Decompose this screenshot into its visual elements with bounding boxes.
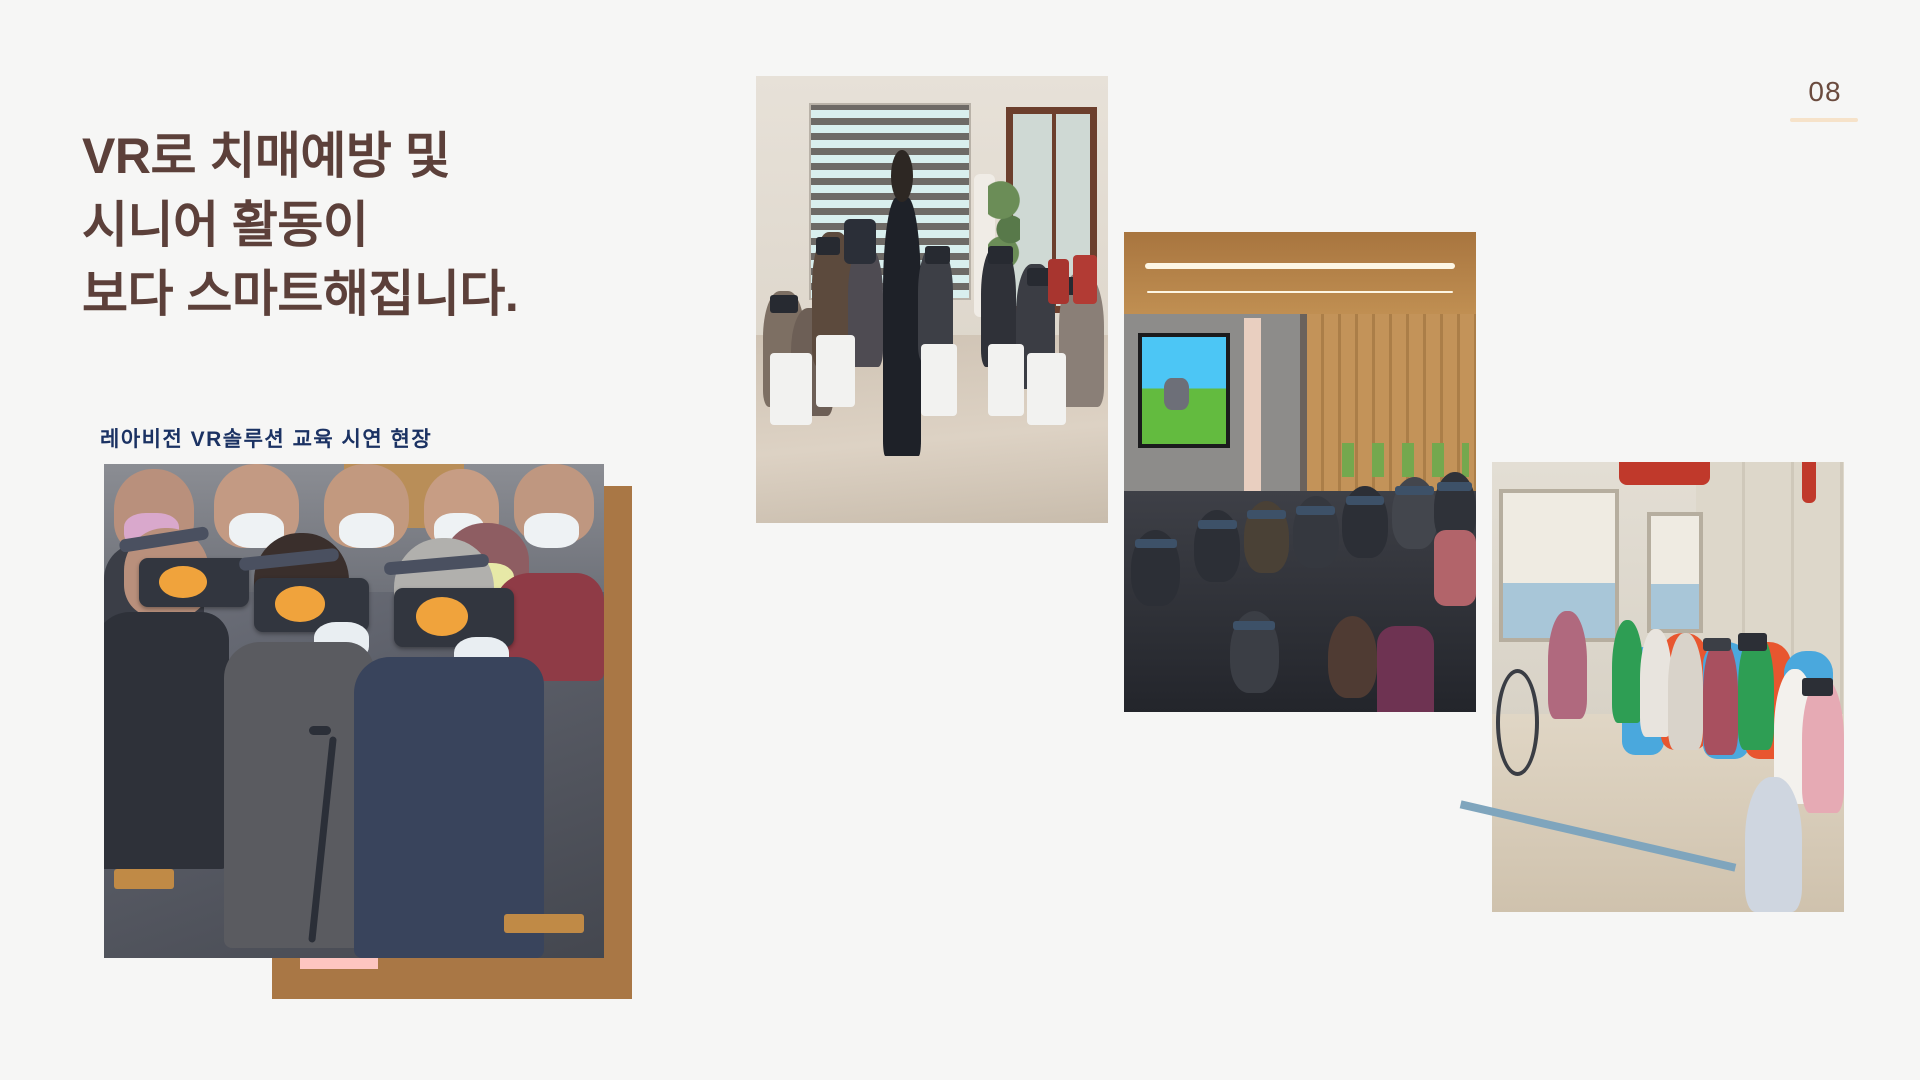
hero-photo-scene xyxy=(104,464,604,958)
card-photo-scene xyxy=(1492,462,1844,795)
page-number-block: 08 xyxy=(1790,78,1860,122)
card-photo xyxy=(1124,232,1476,574)
hero-photo xyxy=(104,464,604,958)
card-photo-scene xyxy=(1124,232,1476,574)
photo-card-jeonju: 전주 주간보호센터 몸이 불편한 어르신들도 누워서 ,앉아서 ! 어떤자세로도… xyxy=(1492,462,1844,912)
page-number: 08 xyxy=(1790,78,1860,106)
slide-root: 08 VR로 치매예방 및 시니어 활동이 보다 스마트해집니다. 레아비전 V… xyxy=(0,0,1920,1080)
card-photo xyxy=(756,76,1108,406)
card-photo xyxy=(1492,462,1844,795)
photo-card-gwangmyeong: 광명 종합사회복지관 디지털헬스케어 VR존 도입으로 매일 학습과 그룹교육 … xyxy=(1124,232,1476,712)
card-photo-scene xyxy=(756,76,1108,406)
hero-caption: 레아비전 VR솔루션 교육 시연 현장 xyxy=(100,423,432,453)
photo-card-icheon: 이천 경로당 이제 차별없는 스마트케어가 현실화 되었습니다. 경로당 VR인… xyxy=(756,76,1108,523)
page-title: VR로 치매예방 및 시니어 활동이 보다 스마트해집니다. xyxy=(82,122,722,329)
hero-photo-block xyxy=(104,464,634,999)
page-number-underline xyxy=(1790,118,1858,122)
